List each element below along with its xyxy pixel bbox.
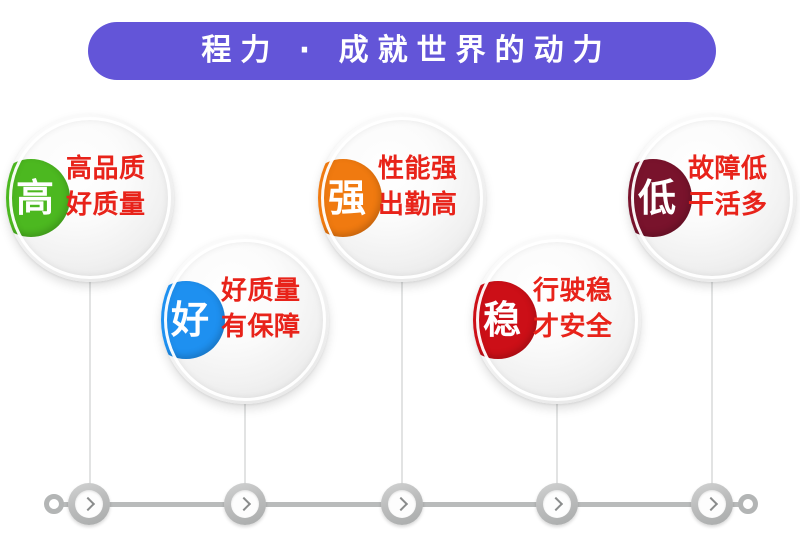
bubble-line-1: 高品质 bbox=[66, 152, 174, 188]
timeline-node-3[interactable] bbox=[381, 483, 423, 525]
timeline-end-cap-left bbox=[44, 494, 64, 514]
bubble-line-2: 有保障 bbox=[221, 310, 329, 346]
chevron-right-icon bbox=[388, 490, 416, 518]
badge-good: 好 bbox=[161, 281, 225, 359]
bubble-text: 性能强 出勤高 bbox=[378, 152, 486, 224]
stem-5 bbox=[711, 282, 713, 504]
bubble-good-quality[interactable]: 好 好质量 有保障 bbox=[161, 236, 329, 404]
bubble-line-1: 性能强 bbox=[378, 152, 486, 188]
stem-1 bbox=[89, 282, 91, 504]
badge-label: 强 bbox=[320, 179, 366, 217]
badge-low: 低 bbox=[628, 159, 692, 237]
stem-3 bbox=[401, 282, 403, 504]
bubble-line-1: 好质量 bbox=[221, 274, 329, 310]
title-banner: 程力 · 成就世界的动力 bbox=[88, 22, 716, 80]
badge-label: 高 bbox=[8, 179, 54, 217]
bubble-strong-performance[interactable]: 强 性能强 出勤高 bbox=[318, 114, 486, 282]
badge-label: 好 bbox=[163, 301, 209, 339]
bubble-line-2: 出勤高 bbox=[378, 188, 486, 224]
bubble-line-1: 行驶稳 bbox=[533, 274, 641, 310]
chevron-right-icon bbox=[698, 490, 726, 518]
chevron-right-icon bbox=[543, 490, 571, 518]
chevron-right-icon bbox=[231, 490, 259, 518]
timeline-node-4[interactable] bbox=[536, 483, 578, 525]
bubble-stable-driving[interactable]: 稳 行驶稳 才安全 bbox=[473, 236, 641, 404]
badge-strong: 强 bbox=[318, 159, 382, 237]
badge-high: 高 bbox=[6, 159, 70, 237]
bubble-text: 高品质 好质量 bbox=[66, 152, 174, 224]
infographic-stage: 程力 · 成就世界的动力 高 高品质 好质量 好 好质量 bbox=[0, 0, 800, 536]
badge-label: 稳 bbox=[475, 301, 521, 339]
timeline-node-2[interactable] bbox=[224, 483, 266, 525]
badge-stable: 稳 bbox=[473, 281, 537, 359]
badge-label: 低 bbox=[630, 179, 676, 217]
chevron-right-icon bbox=[75, 490, 103, 518]
timeline-node-1[interactable] bbox=[68, 483, 110, 525]
bubble-line-1: 故障低 bbox=[688, 152, 796, 188]
bubble-line-2: 才安全 bbox=[533, 310, 641, 346]
bubble-line-2: 好质量 bbox=[66, 188, 174, 224]
bubble-line-2: 干活多 bbox=[688, 188, 796, 224]
timeline-end-cap-right bbox=[738, 494, 758, 514]
bubble-text: 故障低 干活多 bbox=[688, 152, 796, 224]
timeline-node-5[interactable] bbox=[691, 483, 733, 525]
bubble-high-quality[interactable]: 高 高品质 好质量 bbox=[6, 114, 174, 282]
bubble-text: 行驶稳 才安全 bbox=[533, 274, 641, 346]
bubble-low-failure[interactable]: 低 故障低 干活多 bbox=[628, 114, 796, 282]
bubble-text: 好质量 有保障 bbox=[221, 274, 329, 346]
page-title: 程力 · 成就世界的动力 bbox=[192, 36, 611, 66]
